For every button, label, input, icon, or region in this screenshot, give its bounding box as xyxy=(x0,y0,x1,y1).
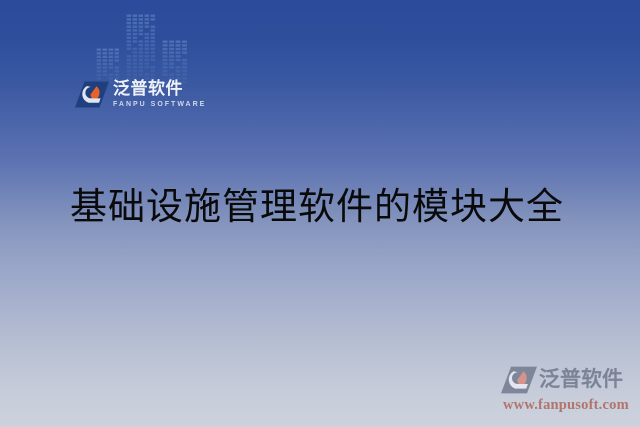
header-logo: 泛普软件 FANPU SOFTWARE xyxy=(74,80,194,120)
watermark: 泛普软件 www.fanpusoft.com xyxy=(500,366,640,416)
slide-title: 基础设施管理软件的模块大全 xyxy=(70,184,570,230)
brand-name-en: FANPU SOFTWARE xyxy=(113,100,206,110)
city-skyline-icon xyxy=(96,12,188,84)
brand-name-cn: 泛普软件 xyxy=(113,80,206,99)
watermark-brand-row: 泛普软件 xyxy=(500,366,640,396)
header-logo-words: 泛普软件 FANPU SOFTWARE xyxy=(113,80,206,110)
fanpu-logo-icon xyxy=(74,81,110,108)
watermark-url: www.fanpusoft.com xyxy=(503,397,640,414)
fanpu-logo-icon xyxy=(500,366,538,394)
watermark-brand-cn: 泛普软件 xyxy=(539,366,623,393)
presentation-slide: 泛普软件 FANPU SOFTWARE 基础设施管理软件的模块大全 泛普软件 w… xyxy=(0,0,640,427)
